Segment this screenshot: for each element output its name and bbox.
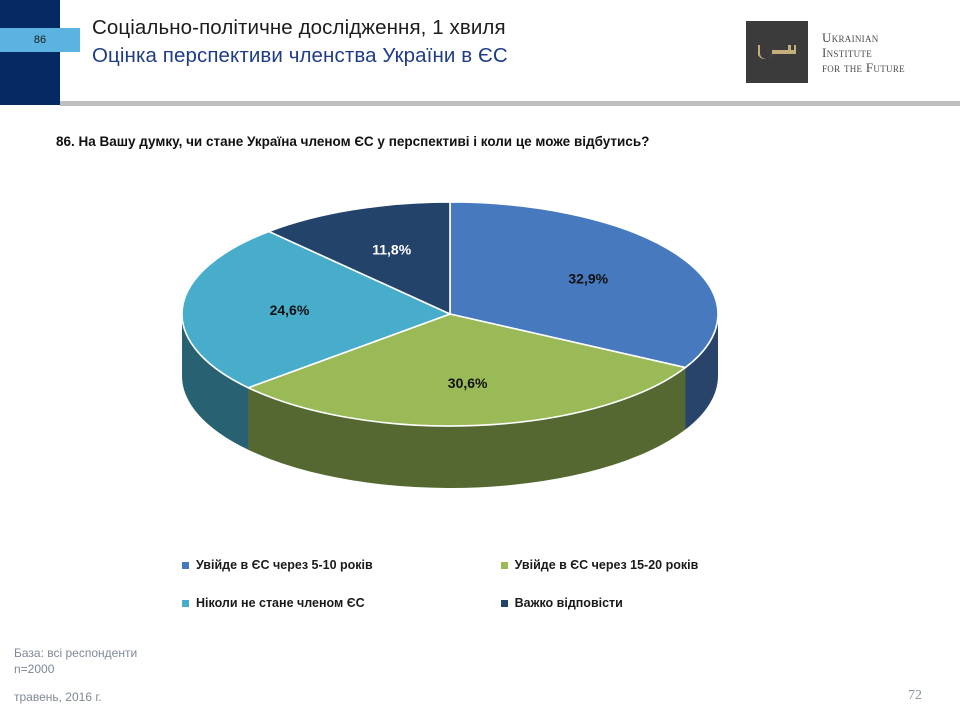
page-number: 72 <box>908 688 922 704</box>
chart-legend: Увійде в ЄС через 5-10 років Увійде в ЄС… <box>182 558 742 634</box>
legend-row: Ніколи не стане членом ЄС Важко відповіс… <box>182 596 742 634</box>
pie-slice-value-3: 11,8% <box>372 241 411 257</box>
survey-question-text: 86. На Вашу думку, чи стане Україна член… <box>56 134 649 149</box>
pie-slice-value-0: 32,9% <box>568 271 608 287</box>
legend-item-2[interactable]: Ніколи не стане членом ЄС <box>182 596 501 634</box>
legend-label-2: Ніколи не стане членом ЄС <box>196 596 365 610</box>
legend-item-3[interactable]: Важко відповісти <box>501 596 742 634</box>
base-note-line-2: n=2000 <box>14 661 137 677</box>
legend-item-1[interactable]: Увійде в ЄС через 15-20 років <box>501 558 742 596</box>
legend-swatch-icon-2 <box>182 600 189 607</box>
base-note-line-1: База: всі респонденти <box>14 645 137 661</box>
page-title-line-2: Оцінка перспективи членства України в ЄС <box>92 42 712 70</box>
slide-number-label: 86 <box>34 34 46 46</box>
legend-item-0[interactable]: Увійде в ЄС через 5-10 років <box>182 558 501 596</box>
survey-date: травень, 2016 г. <box>14 690 102 704</box>
logo-text-line-1: Ukrainian <box>822 30 905 45</box>
key-icon <box>746 21 808 83</box>
pie-chart: 32,9%30,6%24,6%11,8% <box>0 170 960 540</box>
pie-slices <box>182 202 718 426</box>
legend-label-1: Увійде в ЄС через 15-20 років <box>515 558 699 572</box>
header-accent-band <box>0 0 60 105</box>
legend-swatch-icon-3 <box>501 600 508 607</box>
pie-slice-value-2: 24,6% <box>270 302 310 318</box>
legend-label-3: Важко відповісти <box>515 596 623 610</box>
page-title-line-1: Соціально-політичне дослідження, 1 хвиля <box>92 14 712 42</box>
base-note: База: всі респонденти n=2000 <box>14 645 137 677</box>
logo-text: Ukrainian Institute for the Future <box>822 30 905 75</box>
logo-text-line-2: Institute <box>822 45 905 60</box>
legend-swatch-icon-1 <box>501 562 508 569</box>
legend-row: Увійде в ЄС через 5-10 років Увійде в ЄС… <box>182 558 742 596</box>
pie-slice-value-1: 30,6% <box>448 375 488 391</box>
organization-logo: Ukrainian Institute for the Future <box>740 14 950 90</box>
slide-number-tab: 86 <box>0 28 80 52</box>
legend-label-0: Увійде в ЄС через 5-10 років <box>196 558 373 572</box>
page-title: Соціально-політичне дослідження, 1 хвиля… <box>92 14 712 70</box>
header-divider <box>60 101 960 106</box>
legend-swatch-icon-0 <box>182 562 189 569</box>
logo-text-line-3: for the Future <box>822 60 905 75</box>
